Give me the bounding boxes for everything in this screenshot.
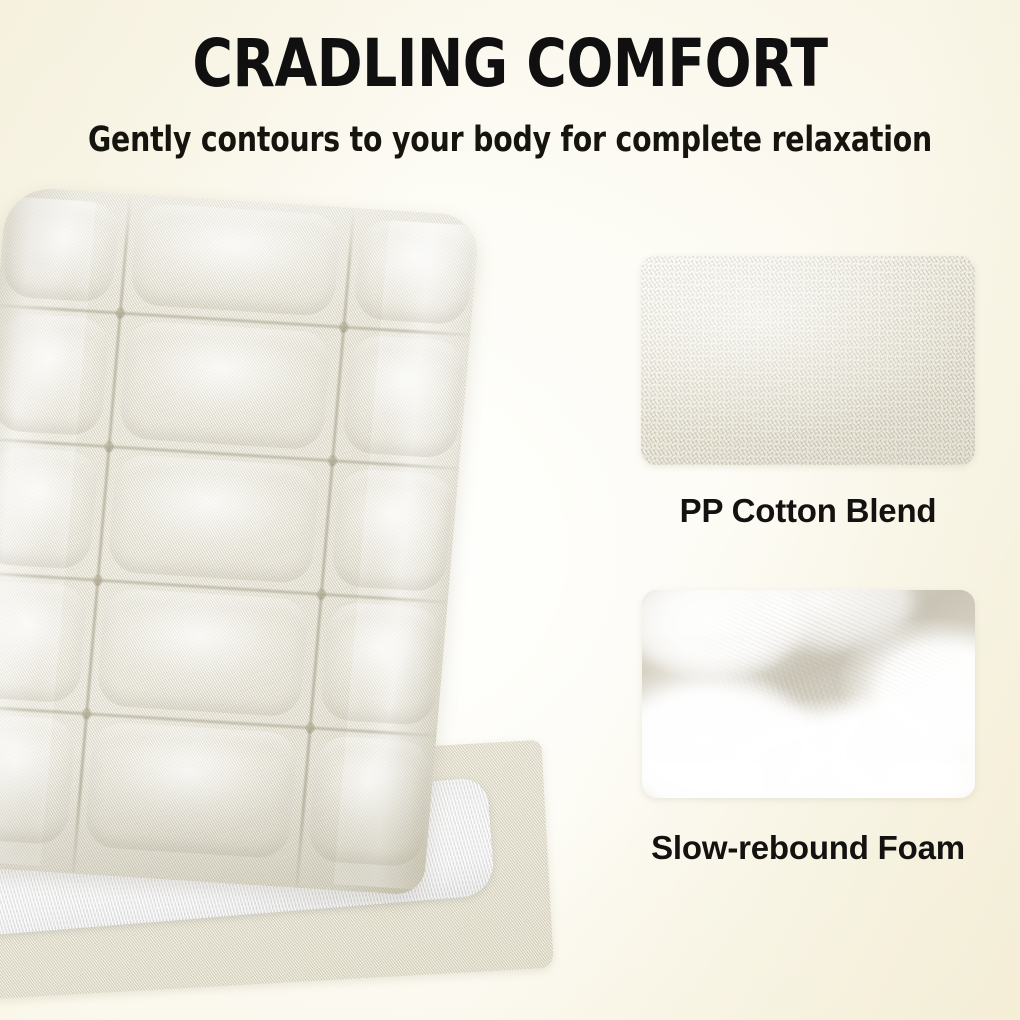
feature-swatch-pp-cotton-blend [641,256,975,465]
feature-label-slow-rebound-foam: Slow-rebound Foam [598,829,1018,867]
product-image-cushion [0,196,592,986]
page-title: CRADLING COMFORT [36,28,985,100]
fabric-swatch-shading [641,256,975,465]
page-subtitle: Gently contours to your body for complet… [51,118,969,162]
cushion-tufted-body [0,186,480,896]
feature-label-pp-cotton-blend: PP Cotton Blend [598,492,1018,530]
cushion-edge-shading [0,186,480,896]
product-feature-banner: CRADLING COMFORT Gently contours to your… [0,0,1020,1020]
foam-fiber-wisps-c [642,590,975,798]
feature-swatch-slow-rebound-foam [642,590,975,798]
